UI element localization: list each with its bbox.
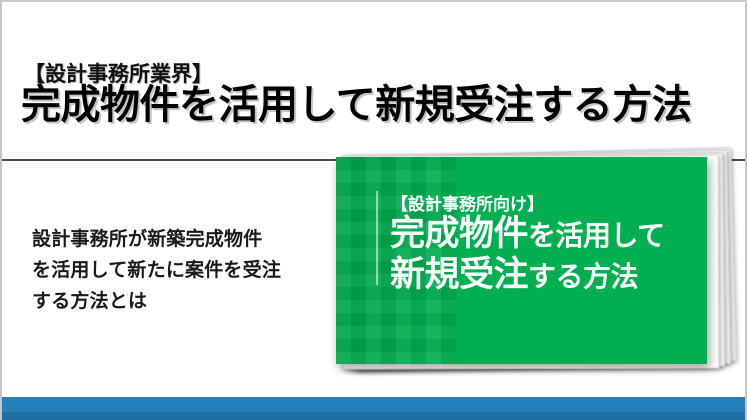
card-title-line-1-strong: 完成物件 xyxy=(390,214,528,254)
card-title-line-2-rest: する方法 xyxy=(528,260,638,293)
header: 【設計事務所業界】 完成物件を活用して新規受注する方法 xyxy=(2,2,747,159)
body-copy-line-1: 設計事務所が新築完成物件 xyxy=(32,224,332,255)
footer-bar-upper xyxy=(2,397,747,412)
card-title-line-2-strong: 新規受注 xyxy=(390,255,528,295)
body-copy: 設計事務所が新築完成物件 を活用して新たに案件を受注 する方法とは xyxy=(32,224,332,316)
card-title-line-2: 新規受注する方法 xyxy=(390,258,638,293)
card-title-line-1: 完成物件を活用して xyxy=(390,217,665,252)
body-copy-line-3: する方法とは xyxy=(32,286,332,317)
brochure-cover-card[interactable]: 【設計事務所向け】 完成物件を活用して 新規受注する方法 Funai Soken… xyxy=(336,157,707,364)
footer-bar xyxy=(2,397,747,420)
page-title: 完成物件を活用して新規受注する方法 xyxy=(21,84,691,127)
body-copy-line-2: を活用して新たに案件を受注 xyxy=(32,255,332,286)
card-kicker: 【設計事務所向け】 xyxy=(391,190,544,215)
card-accent-line xyxy=(376,191,378,285)
slide-page: 【設計事務所業界】 完成物件を活用して新規受注する方法 設計事務所が新築完成物件… xyxy=(0,0,747,420)
footer-bar-lower xyxy=(2,412,747,420)
card-title-line-1-rest: を活用して xyxy=(528,219,665,252)
